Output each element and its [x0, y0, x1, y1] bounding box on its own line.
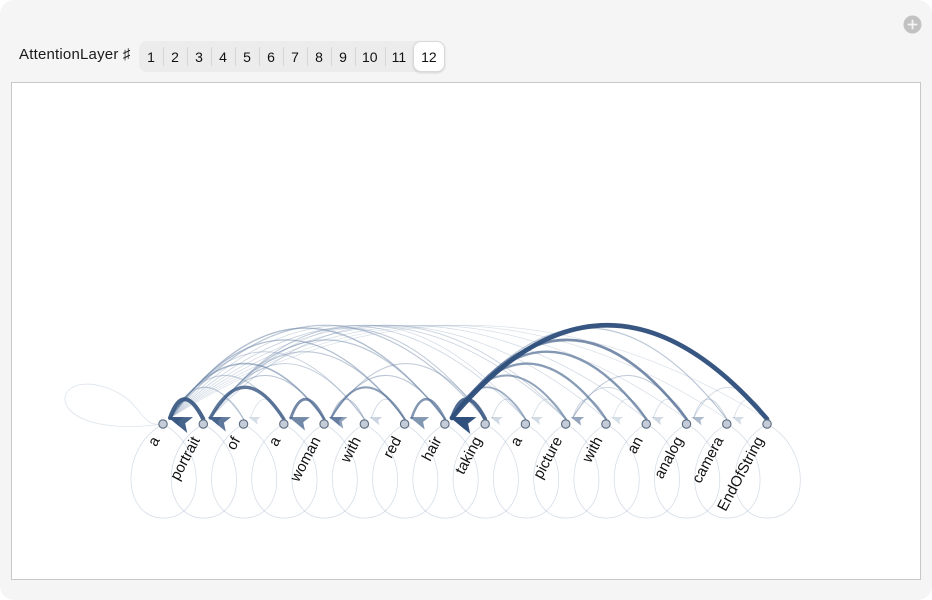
token-label: a [265, 433, 284, 449]
arc-arrowhead [206, 410, 231, 432]
layer-segment-7[interactable]: 7 [283, 41, 307, 72]
token-label: with [337, 434, 365, 466]
token-label: a [145, 433, 164, 449]
token-label: woman [286, 434, 324, 486]
layer-segment-10[interactable]: 10 [355, 41, 385, 72]
token-node[interactable] [642, 420, 650, 428]
arc-arrowhead [610, 413, 624, 425]
layer-segment-11[interactable]: 11 [385, 41, 414, 72]
attention-arc [170, 399, 203, 419]
token-node[interactable] [763, 420, 771, 428]
token-label: camera [689, 433, 728, 486]
token-label: taking [452, 434, 486, 477]
arc-arrowhead [447, 409, 477, 434]
attention-arc [371, 399, 404, 419]
token-node[interactable] [682, 420, 690, 428]
layer-segment-5[interactable]: 5 [235, 41, 259, 72]
token-node[interactable] [521, 420, 529, 428]
token-node[interactable] [360, 420, 368, 428]
self-loop-first-token [65, 384, 163, 426]
arc-arrowhead [730, 413, 744, 425]
attention-graph-panel: aportraitofawomanwithredhairtakingapictu… [11, 82, 921, 580]
arc-arrowhead [327, 411, 348, 429]
attention-arc [613, 399, 646, 419]
attention-arc-diagram[interactable]: aportraitofawomanwithredhairtakingapictu… [12, 83, 922, 581]
token-node[interactable] [199, 420, 207, 428]
attention-arc [170, 364, 324, 419]
token-node[interactable] [400, 420, 408, 428]
arc-arrowhead [569, 413, 584, 426]
attention-arc [210, 387, 284, 419]
layer-segmented-control[interactable]: 123456789101112 [139, 41, 445, 72]
token-label: red [380, 434, 405, 461]
attention-arc [653, 399, 686, 419]
attention-arc [291, 399, 324, 419]
token-label: analog [651, 434, 687, 482]
plus-circle-icon[interactable] [903, 15, 922, 34]
layer-segment-6[interactable]: 6 [259, 41, 283, 72]
arc-arrowhead [247, 413, 261, 425]
attention-arc [170, 325, 687, 419]
arc-arrowhead [368, 413, 382, 425]
token-node[interactable] [280, 420, 288, 428]
token-node[interactable] [441, 420, 449, 428]
token-label: an [624, 434, 647, 457]
token-node[interactable] [320, 420, 328, 428]
layer-segment-4[interactable]: 4 [211, 41, 235, 72]
attention-arc [170, 325, 566, 419]
attention-visualizer-card: AttentionLayer ♯ 123456789101112 aportra… [0, 0, 932, 600]
token-node[interactable] [481, 420, 489, 428]
arc-arrowhead [650, 413, 664, 425]
token-node[interactable] [562, 420, 570, 428]
layer-segment-3[interactable]: 3 [187, 41, 211, 72]
token-label: with [578, 434, 606, 466]
arc-arrowhead [690, 413, 705, 426]
token-node[interactable] [159, 420, 167, 428]
attention-layer-label: AttentionLayer ♯ [19, 46, 131, 63]
layer-segment-9[interactable]: 9 [331, 41, 355, 72]
arc-arrowhead [489, 413, 503, 425]
layer-segment-8[interactable]: 8 [307, 41, 331, 72]
attention-arc-layer [165, 325, 767, 434]
token-node[interactable] [602, 420, 610, 428]
token-label: picture [530, 434, 566, 482]
arc-arrowhead [529, 413, 543, 425]
layer-segment-2[interactable]: 2 [163, 41, 187, 72]
arc-arrowhead [407, 411, 429, 430]
token-node[interactable] [239, 420, 247, 428]
toolbar: AttentionLayer ♯ 123456789101112 [0, 0, 932, 82]
token-label: portrait [167, 433, 204, 483]
layer-segment-1[interactable]: 1 [139, 41, 163, 72]
layer-segment-12[interactable]: 12 [413, 41, 445, 72]
token-node[interactable] [723, 420, 731, 428]
attention-arc [412, 399, 445, 419]
token-label: of [223, 433, 244, 453]
token-label: a [507, 433, 526, 449]
